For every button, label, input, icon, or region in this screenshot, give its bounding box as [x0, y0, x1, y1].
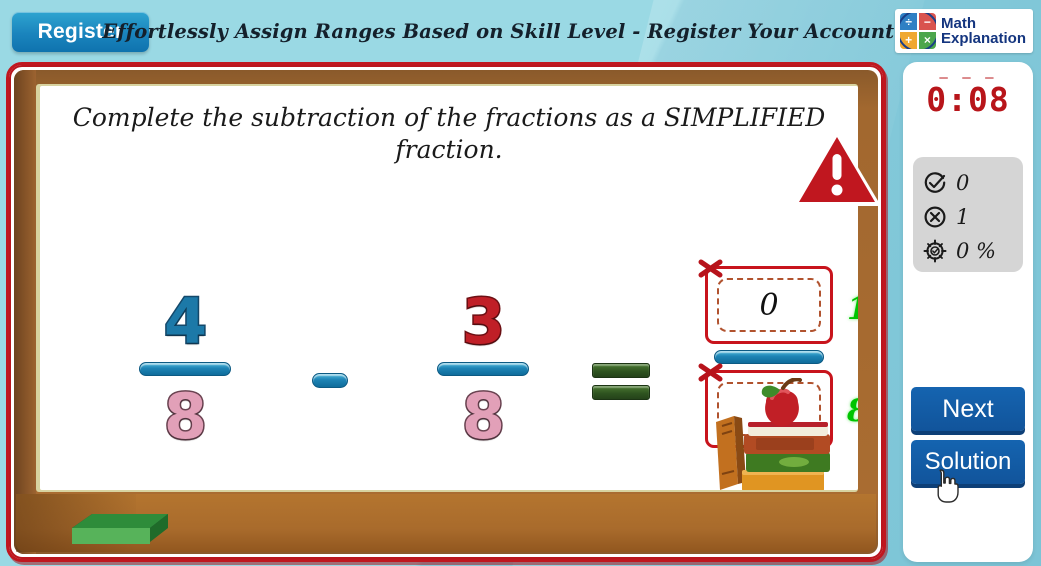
mouse-cursor-pointer [932, 468, 960, 504]
fraction-1-numerator: 4 [130, 291, 240, 353]
divide-quadrant: ÷ [900, 13, 917, 30]
board-surface: Complete the subtraction of the fraction… [40, 86, 858, 490]
stat-incorrect-value: 1 [956, 205, 969, 229]
logo-wordmark: Math Explanation [941, 16, 1026, 47]
solution-button[interactable]: Solution [911, 440, 1025, 484]
correct-numerator-hint: 1 [847, 291, 858, 327]
stat-accuracy: 0 % [923, 234, 1023, 268]
plus-quadrant: + [900, 32, 917, 49]
whiteboard: Complete the subtraction of the fraction… [6, 62, 886, 562]
target-icon [923, 239, 947, 263]
fraction-1: 4 8 [130, 291, 240, 448]
incorrect-x-icon [696, 359, 726, 389]
stat-accuracy-value: 0 % [956, 239, 996, 263]
stat-correct-value: 0 [956, 171, 969, 195]
next-button-label: Next [942, 395, 993, 424]
eraser-icon [64, 506, 176, 554]
math-operators-icon: ÷ − + × [900, 13, 936, 49]
answer-numerator-input[interactable]: 0 [705, 266, 833, 344]
fraction-2-numerator: 3 [428, 291, 538, 353]
question-line-2: fraction. [395, 135, 502, 164]
equals-bar-top [592, 363, 650, 378]
minus-quadrant: − [919, 13, 936, 30]
site-logo[interactable]: ÷ − + × Math Explanation [895, 9, 1033, 53]
logo-line-1: Math [941, 16, 1026, 31]
stats-box: 0 1 0 % [913, 157, 1023, 272]
fraction-2: 3 8 [428, 291, 538, 448]
fraction-2-denominator: 8 [428, 386, 538, 448]
fraction-2-bar [437, 362, 529, 376]
timer-display: 0:08 [903, 80, 1033, 119]
stat-incorrect: 1 [923, 200, 1023, 234]
logo-line-2: Explanation [941, 31, 1026, 46]
warning-triangle-icon [791, 128, 883, 210]
next-button[interactable]: Next [911, 387, 1025, 431]
side-panel: — — — 0:08 0 1 0 % [903, 62, 1033, 562]
promo-banner-text: Effortlessly Assign Ranges Based on Skil… [175, 0, 885, 62]
equals-bar-bottom [592, 385, 650, 400]
top-bar: Register Effortlessly Assign Ranges Base… [0, 0, 1041, 60]
minus-operator-icon [312, 373, 348, 388]
books-and-apple-icon [704, 378, 854, 490]
stat-correct: 0 [923, 166, 1023, 200]
answer-fraction-bar [714, 350, 824, 364]
multiply-quadrant: × [919, 32, 936, 49]
x-circle-icon [923, 205, 947, 229]
question-line-1: Complete the subtraction of the fraction… [73, 103, 826, 132]
incorrect-x-icon [696, 255, 726, 285]
check-circle-icon [923, 171, 947, 195]
fraction-1-denominator: 8 [130, 386, 240, 448]
question-prompt: Complete the subtraction of the fraction… [40, 102, 858, 166]
answer-numerator-value: 0 [759, 288, 778, 323]
fraction-1-bar [139, 362, 231, 376]
equals-operator-icon [592, 363, 650, 403]
